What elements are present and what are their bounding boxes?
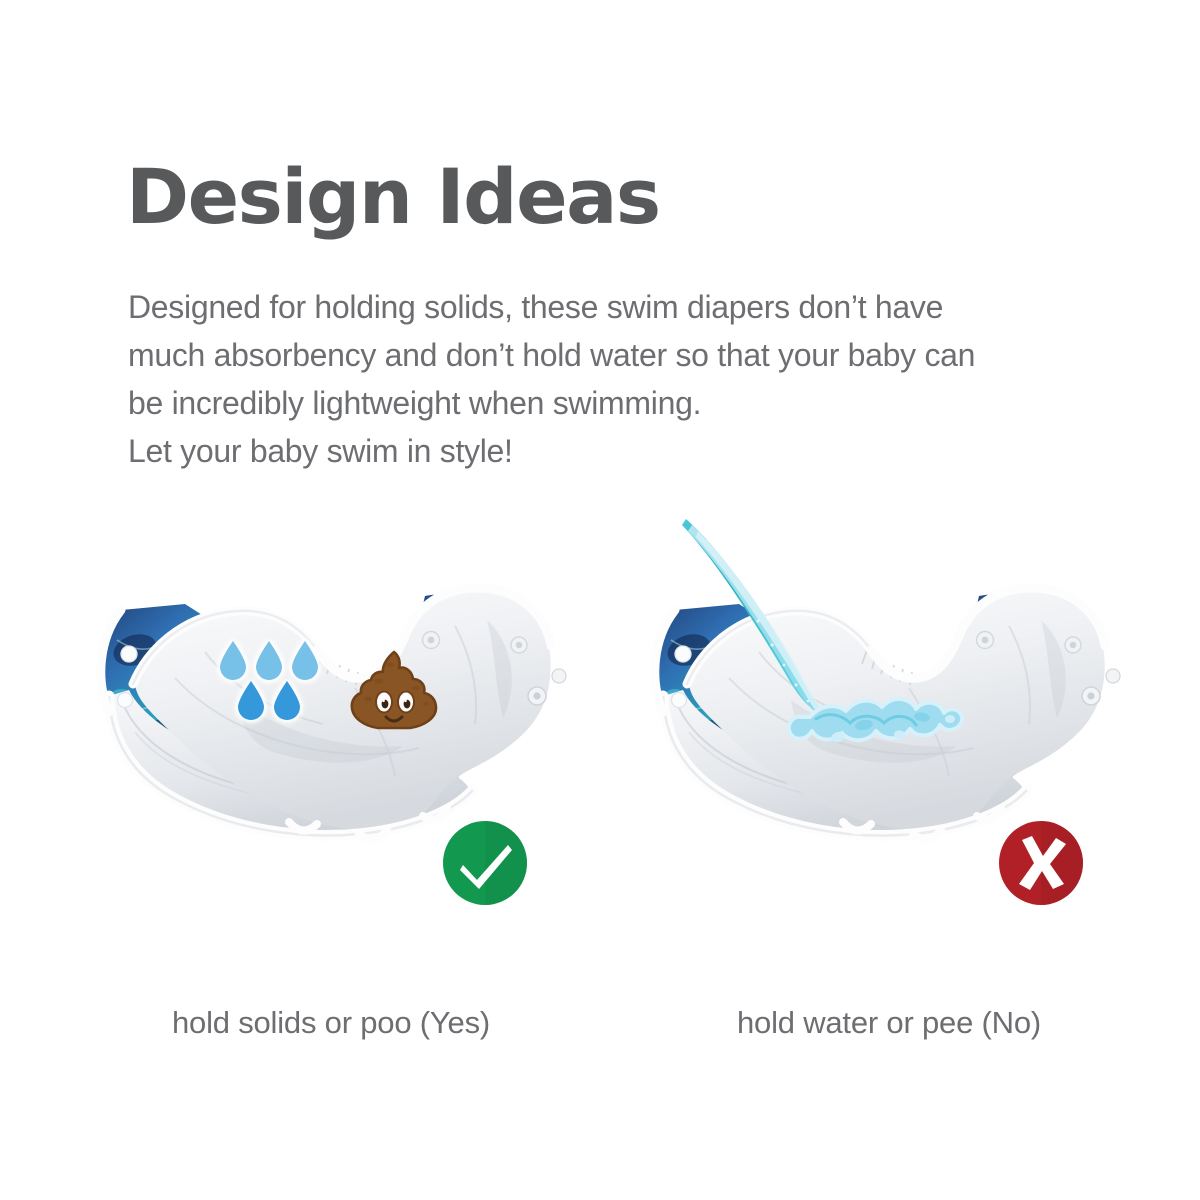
poo-emoji-icon xyxy=(348,648,440,736)
green-check-icon xyxy=(442,820,528,906)
caption-water: hold water or pee (No) xyxy=(609,1005,1169,1041)
swim-diaper-illustration-right xyxy=(595,500,1175,940)
water-drop-icon xyxy=(218,640,248,680)
water-drop-icon xyxy=(236,680,266,720)
caption-solids: hold solids or poo (Yes) xyxy=(51,1005,611,1041)
water-drops-group xyxy=(218,640,324,752)
panel-water xyxy=(595,500,1175,940)
water-drop-icon xyxy=(290,640,320,680)
paragraph-line: Let your baby swim in style! xyxy=(128,427,1128,475)
design-ideas-infographic: Design Ideas Designed for holding solids… xyxy=(0,0,1200,1200)
water-drop-icon xyxy=(254,640,284,680)
paragraph-line: Designed for holding solids, these swim … xyxy=(128,283,1128,331)
water-drop-icon xyxy=(272,680,302,720)
intro-paragraph: Designed for holding solids, these swim … xyxy=(128,283,1128,475)
paragraph-line: be incredibly lightweight when swimming. xyxy=(128,379,1128,427)
page-title: Design Ideas xyxy=(126,157,660,237)
red-cross-icon xyxy=(998,820,1084,906)
paragraph-line: much absorbency and don’t hold water so … xyxy=(128,331,1128,379)
